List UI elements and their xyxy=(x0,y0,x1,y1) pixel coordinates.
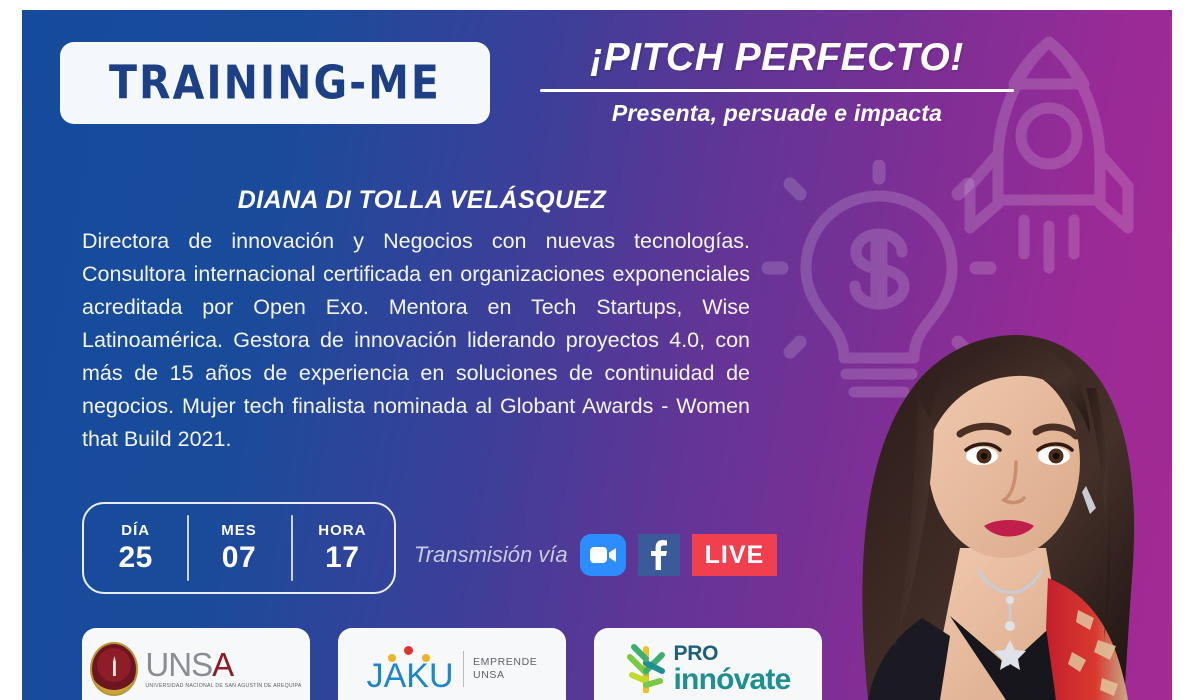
speaker-name: DIANA DI TOLLA VELÁSQUEZ xyxy=(82,186,762,215)
unsa-crest-icon xyxy=(90,642,138,696)
schedule-cell-day: DÍA 25 xyxy=(84,504,187,592)
training-me-logo-text: TRAINING-ME xyxy=(109,56,441,110)
schedule-label-day: DÍA xyxy=(121,522,150,539)
jaku-caption-line1: EMPRENDE xyxy=(473,656,537,669)
speaker-portrait-photo xyxy=(810,248,1172,700)
page-title: ¡PITCH PERFECTO! xyxy=(522,38,1032,79)
unsa-logo-caption: UNIVERSIDAD NACIONAL DE SAN AGUSTÍN DE A… xyxy=(145,684,301,689)
schedule-cell-month: MES 07 xyxy=(187,504,290,592)
schedule-label-hour: HORA xyxy=(318,522,366,539)
facebook-icon[interactable] xyxy=(638,534,680,576)
zoom-icon[interactable] xyxy=(580,534,626,576)
broadcast-row: Transmisión vía LIVE xyxy=(414,534,777,576)
proinnovate-top-text: PRO xyxy=(674,643,791,664)
proinnovate-burst-icon xyxy=(626,641,668,698)
page-subtitle: Presenta, persuade e impacta xyxy=(522,100,1032,127)
schedule-box: DÍA 25 MES 07 HORA 17 xyxy=(82,502,396,594)
poster-canvas: TRAINING-ME ¡PITCH PERFECTO! Presenta, p… xyxy=(0,0,1200,700)
broadcast-label: Transmisión vía xyxy=(414,542,568,568)
title-divider xyxy=(540,89,1014,92)
unsa-logo-text: UNSA xyxy=(145,648,301,681)
jaku-caption-line2: UNSA xyxy=(473,669,537,682)
schedule-label-month: MES xyxy=(221,522,257,539)
schedule-value-month: 07 xyxy=(222,541,256,575)
schedule-value-day: 25 xyxy=(118,541,152,575)
jaku-logo: JAKU EMPRENDE UNSA xyxy=(338,628,566,700)
training-me-logo: TRAINING-ME xyxy=(60,42,490,124)
sponsor-row: UNSA UNIVERSIDAD NACIONAL DE SAN AGUSTÍN… xyxy=(82,628,822,700)
jaku-divider xyxy=(463,651,465,687)
live-badge[interactable]: LIVE xyxy=(692,534,778,576)
proinnovate-logo: PRO innóvate xyxy=(594,628,822,700)
speaker-bio: Directora de innovación y Negocios con n… xyxy=(82,225,750,456)
schedule-cell-hour: HORA 17 xyxy=(291,504,394,592)
title-block: ¡PITCH PERFECTO! Presenta, persuade e im… xyxy=(522,38,1032,127)
poster-background: TRAINING-ME ¡PITCH PERFECTO! Presenta, p… xyxy=(22,10,1172,700)
proinnovate-bottom-text: innóvate xyxy=(674,665,791,695)
schedule-value-hour: 17 xyxy=(325,541,359,575)
jaku-dots-icon xyxy=(382,646,438,659)
unsa-logo: UNSA UNIVERSIDAD NACIONAL DE SAN AGUSTÍN… xyxy=(82,628,310,700)
jaku-logo-text: JAKU xyxy=(367,659,454,693)
